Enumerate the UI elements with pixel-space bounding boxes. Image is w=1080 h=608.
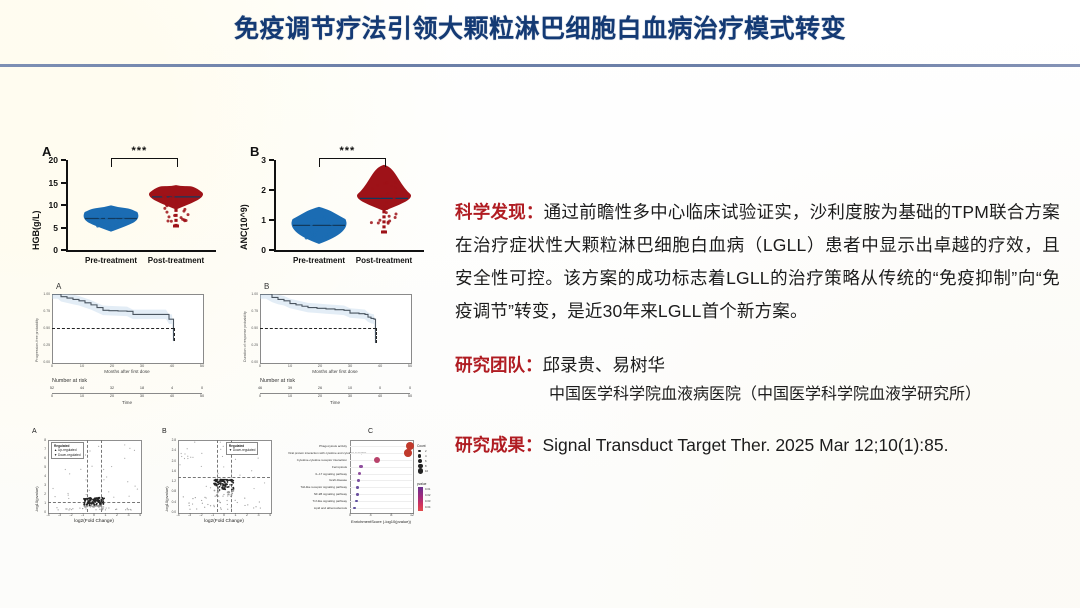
y-tick-label: 2.0 bbox=[164, 459, 176, 463]
regulation-legend: Regulated▼ Down-regulated bbox=[226, 442, 259, 455]
y-tick bbox=[269, 189, 274, 191]
y-tick-label: 8 bbox=[34, 438, 46, 442]
y-tick-label: 3 bbox=[34, 483, 46, 487]
x-tick-label: 12 bbox=[407, 513, 417, 517]
y-tick-label: 1 bbox=[34, 501, 46, 505]
risk-value: 10 bbox=[344, 386, 356, 390]
risk-tick-label: 40 bbox=[166, 394, 178, 398]
color-legend-label: 0.01 bbox=[425, 487, 430, 491]
panel-letter: B bbox=[162, 428, 167, 435]
x-tick-label: -1 bbox=[208, 513, 218, 517]
size-legend-title: Count bbox=[417, 444, 426, 448]
color-legend-label: 0.04 bbox=[425, 505, 430, 509]
size-legend-dot bbox=[418, 468, 423, 473]
median-horizontal-line bbox=[52, 328, 174, 329]
x-axis-label: Months after first dose bbox=[52, 369, 202, 374]
risk-value: 39 bbox=[284, 386, 296, 390]
survival-curve bbox=[52, 294, 204, 364]
risk-axis bbox=[52, 393, 202, 394]
y-tick-label: 0.0 bbox=[164, 510, 176, 514]
risk-tick-label: 20 bbox=[314, 394, 326, 398]
x-tick-label: 0 bbox=[89, 513, 99, 517]
research-result-line: 研究成果：Signal Transduct Target Ther. 2025 … bbox=[455, 430, 1060, 460]
violin-shape-0 bbox=[76, 156, 146, 254]
panel-letter: A bbox=[56, 282, 61, 291]
pathway-label: Graft disease bbox=[288, 478, 347, 482]
violin-chart-anc: BANC(10^9)0123Pre-treatmentPost-treatmen… bbox=[234, 138, 434, 278]
size-legend-label: 4 bbox=[425, 454, 427, 458]
y-axis-label: Progression-free probability bbox=[35, 318, 39, 362]
color-legend-gradient bbox=[418, 487, 423, 511]
risk-value: 0 bbox=[374, 386, 386, 390]
pathway-label: Viral protein interaction with cytokine … bbox=[288, 451, 347, 455]
page-title: 免疫调节疗法引领大颗粒淋巴细胞白血病治疗模式转变 bbox=[0, 9, 1080, 45]
panel-letter: B bbox=[264, 282, 269, 291]
risk-value: 26 bbox=[314, 386, 326, 390]
research-team-line: 研究团队：邱录贵、易树华 bbox=[455, 350, 1060, 380]
risk-tick-label: 10 bbox=[76, 394, 88, 398]
scientific-finding-label: 科学发现： bbox=[455, 202, 544, 222]
risk-tick-label: 50 bbox=[196, 394, 208, 398]
y-tick bbox=[61, 159, 66, 161]
risk-value: 46 bbox=[254, 386, 266, 390]
y-tick-label: 1.2 bbox=[164, 479, 176, 483]
size-legend-label: 8 bbox=[425, 464, 427, 468]
violin-row: AHGB(g/L)05101520Pre-treatmentPost-treat… bbox=[26, 138, 441, 278]
pathway-dot bbox=[356, 493, 359, 496]
y-tick-label: 3 bbox=[248, 155, 266, 165]
y-tick-label: 6 bbox=[34, 456, 46, 460]
median-horizontal-line bbox=[260, 328, 376, 329]
risk-tick-label: 10 bbox=[284, 394, 296, 398]
x-tick-label: 3 bbox=[254, 513, 264, 517]
pathway-dot bbox=[357, 479, 360, 482]
violin-shape-1 bbox=[141, 156, 211, 254]
x-tick-label: -2 bbox=[196, 513, 206, 517]
y-tick-label: 0 bbox=[40, 245, 58, 255]
x-tick-label: -3 bbox=[185, 513, 195, 517]
risk-tick-label: 30 bbox=[136, 394, 148, 398]
x-tick-label: 1 bbox=[231, 513, 241, 517]
y-tick-label: 0.50 bbox=[244, 326, 258, 330]
risk-value: 18 bbox=[136, 386, 148, 390]
x-tick-label: 4 bbox=[265, 513, 275, 517]
y-tick-label: 4 bbox=[34, 474, 46, 478]
risk-x-label: Time bbox=[52, 400, 202, 405]
x-tick-label: 4 bbox=[366, 513, 376, 517]
risk-tick-label: 20 bbox=[106, 394, 118, 398]
risk-tick-label: 50 bbox=[404, 394, 416, 398]
color-legend-label: 0.03 bbox=[425, 499, 430, 503]
scientific-finding-paragraph: 科学发现：通过前瞻性多中心临床试验证实，沙利度胺为基础的TPM联合方案在治疗症状… bbox=[455, 196, 1060, 328]
volcano-plot-a: A-log10(pvalue)log2(Fold Change)-4-3-2-1… bbox=[26, 428, 156, 538]
pathway-dot bbox=[374, 457, 380, 463]
x-tick-label: 3 bbox=[124, 513, 134, 517]
research-result-label: 研究成果： bbox=[455, 435, 543, 455]
risk-tick-label: 30 bbox=[344, 394, 356, 398]
research-team-label: 研究团队： bbox=[455, 355, 543, 375]
y-tick-label: 2 bbox=[34, 492, 46, 496]
x-axis-label: log2(Fold Change) bbox=[178, 519, 270, 524]
pathway-dot bbox=[356, 486, 359, 489]
size-legend-label: 10 bbox=[425, 469, 428, 473]
pathway-label: Lipid and atherosclerosis bbox=[288, 506, 347, 510]
y-tick-label: 0 bbox=[34, 510, 46, 514]
size-legend-dot bbox=[418, 459, 422, 463]
pathway-dot bbox=[404, 449, 412, 457]
pathway-label: Tnf-like signaling pathway bbox=[288, 499, 347, 503]
y-tick bbox=[61, 182, 66, 184]
risk-value: 52 bbox=[46, 386, 58, 390]
violin-chart-hgb: AHGB(g/L)05101520Pre-treatmentPost-treat… bbox=[26, 138, 226, 278]
y-tick-label: 0.50 bbox=[36, 326, 50, 330]
legend-item-1: ▼ Down-regulated bbox=[54, 453, 81, 457]
km-chart-pfs: AProgression-free probability0.000.250.5… bbox=[26, 280, 226, 425]
x-tick-label: 2 bbox=[242, 513, 252, 517]
risk-value: 32 bbox=[106, 386, 118, 390]
pathway-dotplot: CEnrichmentScore (-log10(pvalue))04812Ph… bbox=[288, 428, 441, 538]
pathway-label: NF-kB signaling pathway bbox=[288, 492, 347, 496]
y-tick bbox=[269, 159, 274, 161]
text-panel: 科学发现：通过前瞻性多中心临床试验证实，沙利度胺为基础的TPM联合方案在治疗症状… bbox=[455, 178, 1060, 460]
y-axis-label: -log10(pvalue) bbox=[34, 486, 39, 512]
risk-tick-label: 0 bbox=[46, 394, 58, 398]
research-result-block: 研究成果：Signal Transduct Target Ther. 2025 … bbox=[455, 430, 1060, 460]
y-tick-label: 0.75 bbox=[36, 309, 50, 313]
x-tick-label: 0 bbox=[219, 513, 229, 517]
y-tick-label: 0.25 bbox=[36, 343, 50, 347]
x-axis-label: Months after first dose bbox=[260, 369, 410, 374]
risk-x-label: Time bbox=[260, 400, 410, 405]
category-label-1: Post-treatment bbox=[342, 256, 426, 265]
median-vertical-line bbox=[376, 328, 377, 343]
y-tick bbox=[61, 249, 66, 251]
research-team-names: 邱录贵、易树华 bbox=[543, 355, 666, 375]
regulation-legend: Regulated▲ Up-regulated▼ Down-regulated bbox=[51, 442, 84, 459]
size-legend-label: 2 bbox=[425, 449, 427, 453]
pathway-dot bbox=[359, 465, 362, 468]
omics-row: A-log10(pvalue)log2(Fold Change)-4-3-2-1… bbox=[26, 428, 441, 538]
risk-value: 0 bbox=[196, 386, 208, 390]
y-tick-label: 0.25 bbox=[244, 343, 258, 347]
research-team-affiliation: 中国医学科学院血液病医院（中国医学科学院血液学研究所） bbox=[549, 380, 1060, 410]
y-tick bbox=[61, 227, 66, 229]
x-tick-label: 8 bbox=[386, 513, 396, 517]
header-divider bbox=[0, 64, 1080, 67]
header: 免疫调节疗法引领大颗粒淋巴细胞白血病治疗模式转变 bbox=[0, 0, 1080, 67]
y-tick-label: 2 bbox=[248, 185, 266, 195]
x-axis-label: log2(Fold Change) bbox=[48, 519, 140, 524]
x-tick-label: 2 bbox=[112, 513, 122, 517]
significance-bracket bbox=[319, 158, 386, 167]
x-tick-label: -3 bbox=[55, 513, 65, 517]
y-tick-label: 10 bbox=[40, 200, 58, 210]
y-axis-label: Duration of response probability bbox=[243, 311, 247, 362]
risk-value: 0 bbox=[404, 386, 416, 390]
pathway-label: Ferroptosis bbox=[288, 465, 347, 469]
risk-value: 44 bbox=[76, 386, 88, 390]
x-tick-label: -2 bbox=[66, 513, 76, 517]
panel-letter: C bbox=[368, 428, 373, 435]
y-tick-label: 0.8 bbox=[164, 489, 176, 493]
pathway-label: Phagocytosis activity bbox=[288, 444, 347, 448]
y-axis bbox=[66, 160, 68, 251]
survival-curve bbox=[260, 294, 412, 364]
research-team-block: 研究团队：邱录贵、易树华 中国医学科学院血液病医院（中国医学科学院血液学研究所） bbox=[455, 350, 1060, 410]
significance-stars: *** bbox=[340, 145, 356, 157]
pathway-label: Cytokine-cytokine receptor interaction bbox=[288, 458, 347, 462]
y-tick-label: 0.4 bbox=[164, 500, 176, 504]
pathway-label: Toll-like receptor signaling pathway bbox=[288, 485, 347, 489]
research-result-citation: Signal Transduct Target Ther. 2025 Mar 1… bbox=[543, 435, 949, 455]
y-tick bbox=[269, 249, 274, 251]
number-at-risk-title: Number at risk bbox=[260, 378, 295, 384]
km-chart-dor: BDuration of response probability0.000.2… bbox=[234, 280, 434, 425]
y-tick-label: 0.75 bbox=[244, 309, 258, 313]
color-legend-title: pvalue bbox=[417, 482, 426, 486]
y-axis-label: ANC(10^9) bbox=[239, 204, 249, 250]
violin-shape-0 bbox=[284, 156, 354, 254]
y-tick-label: 2.4 bbox=[164, 448, 176, 452]
scientific-finding-text: 通过前瞻性多中心临床试验证实，沙利度胺为基础的TPM联合方案在治疗症状性大颗粒淋… bbox=[455, 202, 1060, 321]
x-tick-label: -1 bbox=[78, 513, 88, 517]
color-legend-label: 0.02 bbox=[425, 493, 430, 497]
significance-stars: *** bbox=[132, 145, 148, 157]
y-tick-label: 1.00 bbox=[244, 292, 258, 296]
pathway-label: IL-17 signaling pathway bbox=[288, 472, 347, 476]
y-tick-label: 1 bbox=[248, 215, 266, 225]
y-tick bbox=[61, 204, 66, 206]
violin-shape-1 bbox=[349, 156, 419, 254]
risk-tick-label: 40 bbox=[374, 394, 386, 398]
x-tick-label: 1 bbox=[101, 513, 111, 517]
size-legend-dot bbox=[418, 450, 421, 453]
x-tick-label: 0 bbox=[345, 513, 355, 517]
panel-letter: A bbox=[32, 428, 37, 435]
y-tick-label: 7 bbox=[34, 447, 46, 451]
y-tick-label: 0 bbox=[248, 245, 266, 255]
risk-value: 4 bbox=[166, 386, 178, 390]
risk-tick-label: 0 bbox=[254, 394, 266, 398]
number-at-risk-title: Number at risk bbox=[52, 378, 87, 384]
kaplan-meier-row: AProgression-free probability0.000.250.5… bbox=[26, 280, 441, 425]
scientific-finding-block: 科学发现：通过前瞻性多中心临床试验证实，沙利度胺为基础的TPM联合方案在治疗症状… bbox=[455, 196, 1060, 328]
y-tick bbox=[269, 219, 274, 221]
size-legend-label: 6 bbox=[425, 459, 427, 463]
significance-bracket bbox=[111, 158, 178, 167]
y-tick-label: 20 bbox=[40, 155, 58, 165]
size-legend-dot bbox=[418, 454, 421, 457]
y-axis bbox=[274, 160, 276, 251]
median-vertical-line bbox=[174, 328, 175, 341]
figure-panel: AHGB(g/L)05101520Pre-treatmentPost-treat… bbox=[26, 138, 441, 538]
y-tick-label: 2.8 bbox=[164, 438, 176, 442]
x-axis-label: EnrichmentScore (-log10(pvalue)) bbox=[336, 519, 426, 524]
x-tick-label: 4 bbox=[135, 513, 145, 517]
risk-axis bbox=[260, 393, 410, 394]
legend-item-0: ▼ Down-regulated bbox=[229, 448, 256, 452]
y-tick-label: 5 bbox=[34, 465, 46, 469]
y-tick-label: 1.6 bbox=[164, 469, 176, 473]
volcano-plot-b: B-log10(pvalue)log2(Fold Change)-4-3-2-1… bbox=[156, 428, 286, 538]
y-tick-label: 5 bbox=[40, 223, 58, 233]
y-tick-label: 15 bbox=[40, 178, 58, 188]
category-label-1: Post-treatment bbox=[134, 256, 218, 265]
y-tick-label: 1.00 bbox=[36, 292, 50, 296]
